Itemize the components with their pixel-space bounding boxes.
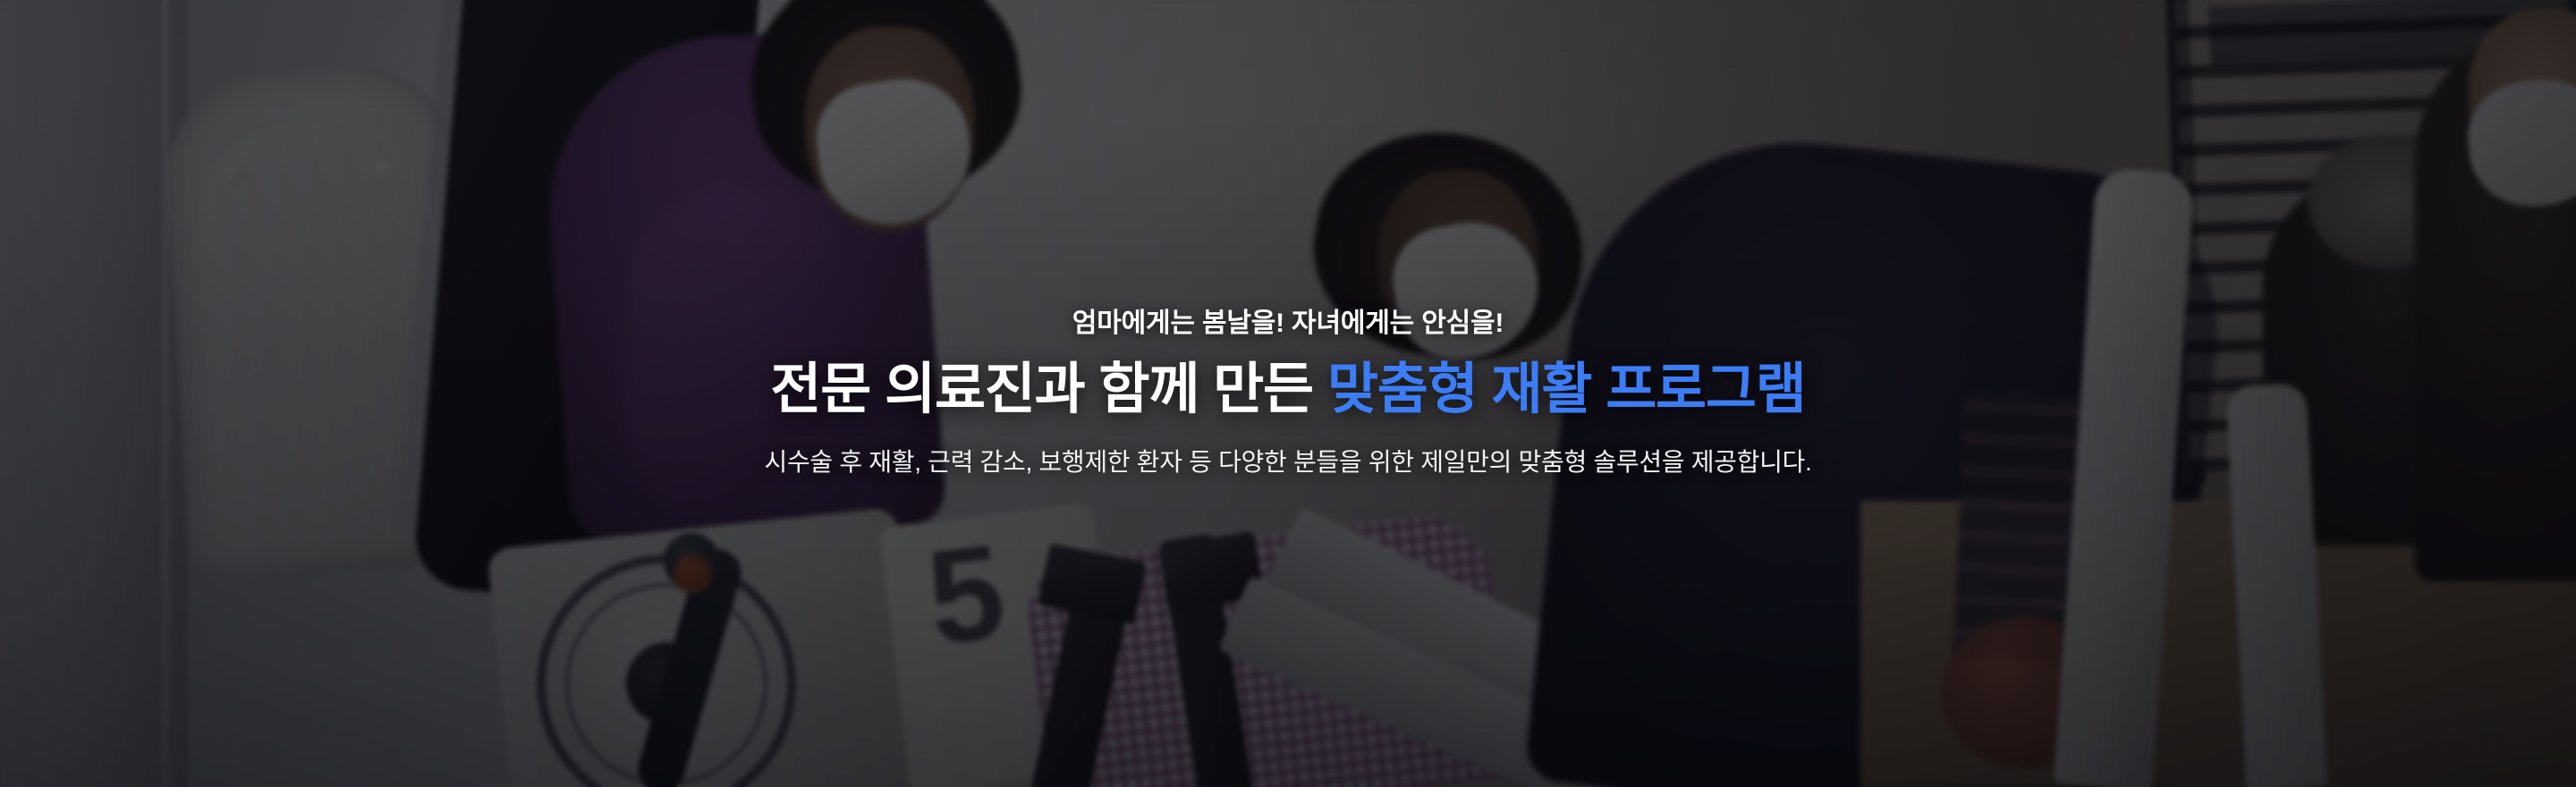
hero-content: 엄마에게는 봄날을! 자녀에게는 안심을! 전문 의료진과 함께 만든 맞춤형 … [0,0,2576,787]
hero-headline-accent: 맞춤형 재활 프로그램 [1327,359,1806,420]
hero-subheadline-text: 시수술 후 재활, 근력 감소, 보행제한 환자 등 다양한 분들을 위한 제일… [764,444,1811,481]
hero-banner: 5 엄마에게는 봄날을! 자녀에게는 안심을! 전문 의료 [0,0,2576,787]
hero-eyebrow-text: 엄마에게는 봄날을! 자녀에게는 안심을! [1072,306,1504,341]
hero-headline-plain: 전문 의료진과 함께 만든 [770,359,1327,420]
hero-headline: 전문 의료진과 함께 만든 맞춤형 재활 프로그램 [770,355,1805,425]
